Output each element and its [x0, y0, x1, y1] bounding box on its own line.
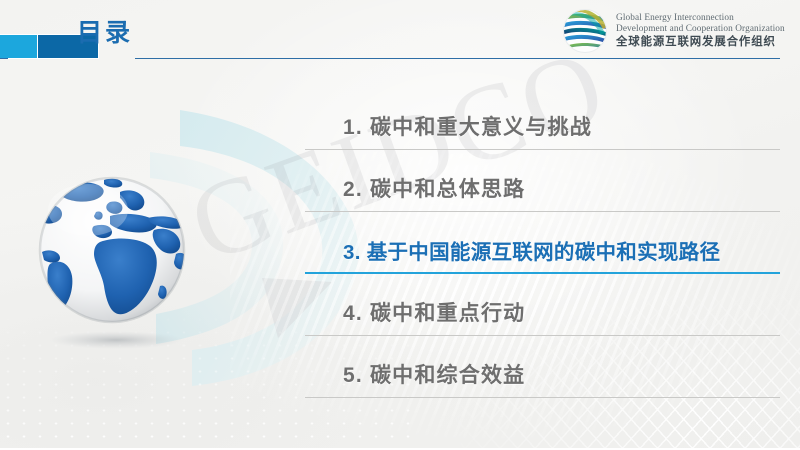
- toc-item-1-label: 1. 碳中和重大意义与挑战: [343, 111, 592, 141]
- table-of-contents: 1. 碳中和重大意义与挑战 2. 碳中和总体思路 3. 基于中国能源互联网的碳中…: [305, 88, 780, 398]
- logo-english-line-2: Development and Cooperation Organization: [616, 24, 785, 34]
- header-accent-bar-cyan: [0, 34, 38, 59]
- toc-item-4-label: 4. 碳中和重点行动: [343, 297, 525, 327]
- toc-item-2-label: 2. 碳中和总体思路: [343, 173, 525, 203]
- organization-logo: Global Energy Interconnection Developmen…: [561, 7, 785, 55]
- toc-item-4[interactable]: 4. 碳中和重点行动: [305, 274, 780, 336]
- header-rule: [135, 58, 780, 59]
- earth-globe-graphic: [24, 168, 214, 368]
- header-rule-tail: [0, 58, 8, 59]
- toc-item-5-divider: [305, 397, 780, 398]
- toc-item-2[interactable]: 2. 碳中和总体思路: [305, 150, 780, 212]
- toc-item-3-active[interactable]: 3. 基于中国能源互联网的碳中和实现路径: [305, 212, 780, 274]
- geidco-globe-logo-icon: [561, 7, 609, 55]
- toc-item-5[interactable]: 5. 碳中和综合效益: [305, 336, 780, 398]
- toc-item-1[interactable]: 1. 碳中和重大意义与挑战: [305, 88, 780, 150]
- logo-english-line-1: Global Energy Interconnection: [616, 13, 785, 23]
- logo-chinese-name: 全球能源互联网发展合作组织: [616, 36, 785, 49]
- presentation-slide: GEIDCO 目录: [0, 0, 800, 450]
- page-title: 目录: [77, 21, 133, 46]
- toc-item-3-label: 3. 基于中国能源互联网的碳中和实现路径: [343, 235, 720, 265]
- toc-item-5-label: 5. 碳中和综合效益: [343, 359, 525, 389]
